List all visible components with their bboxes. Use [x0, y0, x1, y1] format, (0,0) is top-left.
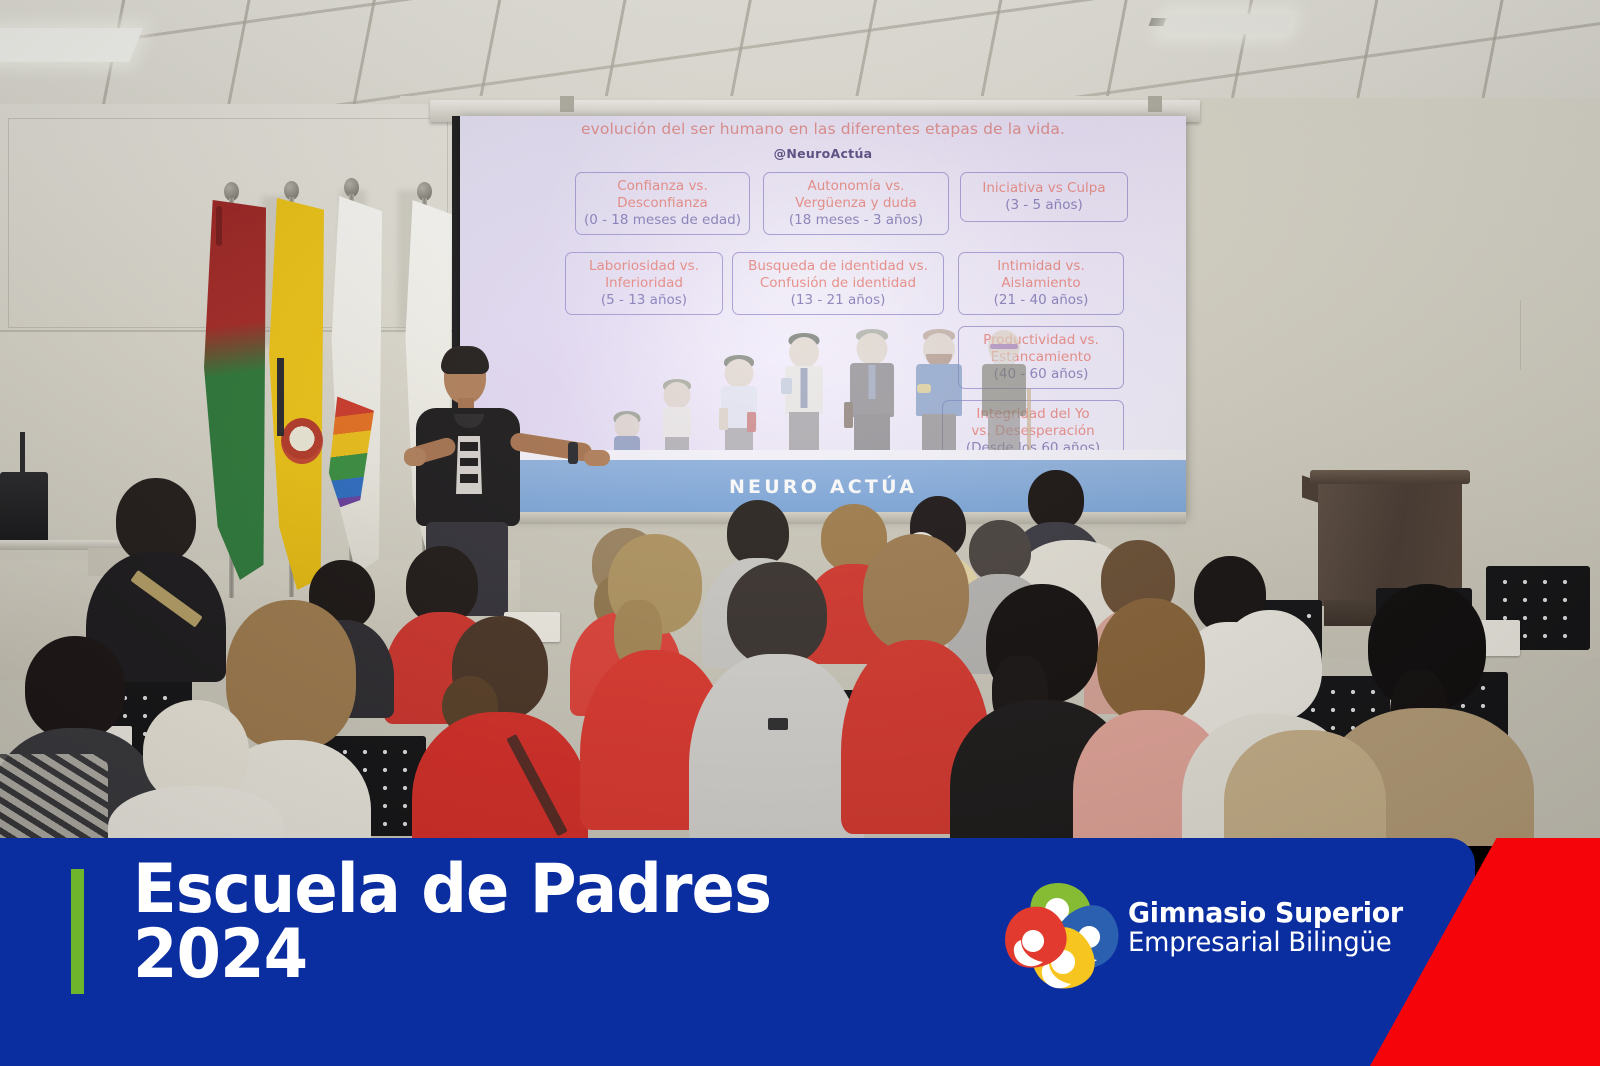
stage-box: Laboriosidad vs. Inferioridad (5 - 13 añ…: [565, 252, 723, 315]
audience-member: [1230, 700, 1380, 846]
loudspeaker: [0, 472, 48, 550]
school-name-line-2: Empresarial Bilingüe: [1128, 928, 1403, 958]
podium-top: [1310, 470, 1470, 484]
wall-panel: [1520, 300, 1590, 370]
stage-box: Iniciativa vs Culpa (3 - 5 años): [960, 172, 1128, 222]
ceiling-light: [1160, 14, 1293, 34]
school-name-line-1: Gimnasio Superior: [1128, 898, 1403, 928]
stage-box: Busqueda de identidad vs. Confusión de i…: [732, 252, 944, 315]
screen-bracket: [560, 96, 574, 112]
slide-handle: @NeuroActúa: [460, 146, 1186, 161]
school-logo: [1005, 876, 1125, 996]
stage-box: Intimidad vs. Aislamiento (21 - 40 años): [958, 252, 1124, 315]
audience-member: [702, 562, 852, 842]
green-accent-bar: [71, 869, 84, 994]
flag-crest: [281, 418, 323, 464]
title-line-2: 2024: [133, 922, 771, 987]
audience-member: [116, 700, 276, 846]
poster-root: evolución del ser humano en las diferent…: [0, 0, 1600, 1066]
stage-box: Autonomía vs. Vergüenza y duda (18 meses…: [763, 172, 949, 235]
slide-header-text: evolución del ser humano en las diferent…: [460, 120, 1186, 138]
stage-box: Confianza vs. Desconfianza (0 - 18 meses…: [575, 172, 750, 235]
screen-bracket: [1148, 96, 1162, 112]
school-name: Gimnasio Superior Empresarial Bilingüe: [1128, 898, 1414, 957]
ceiling-light: [0, 28, 143, 62]
event-photo: evolución del ser humano en las diferent…: [0, 0, 1600, 846]
page-title: Escuela de Padres 2024: [133, 857, 771, 988]
audience-member: [420, 616, 580, 846]
